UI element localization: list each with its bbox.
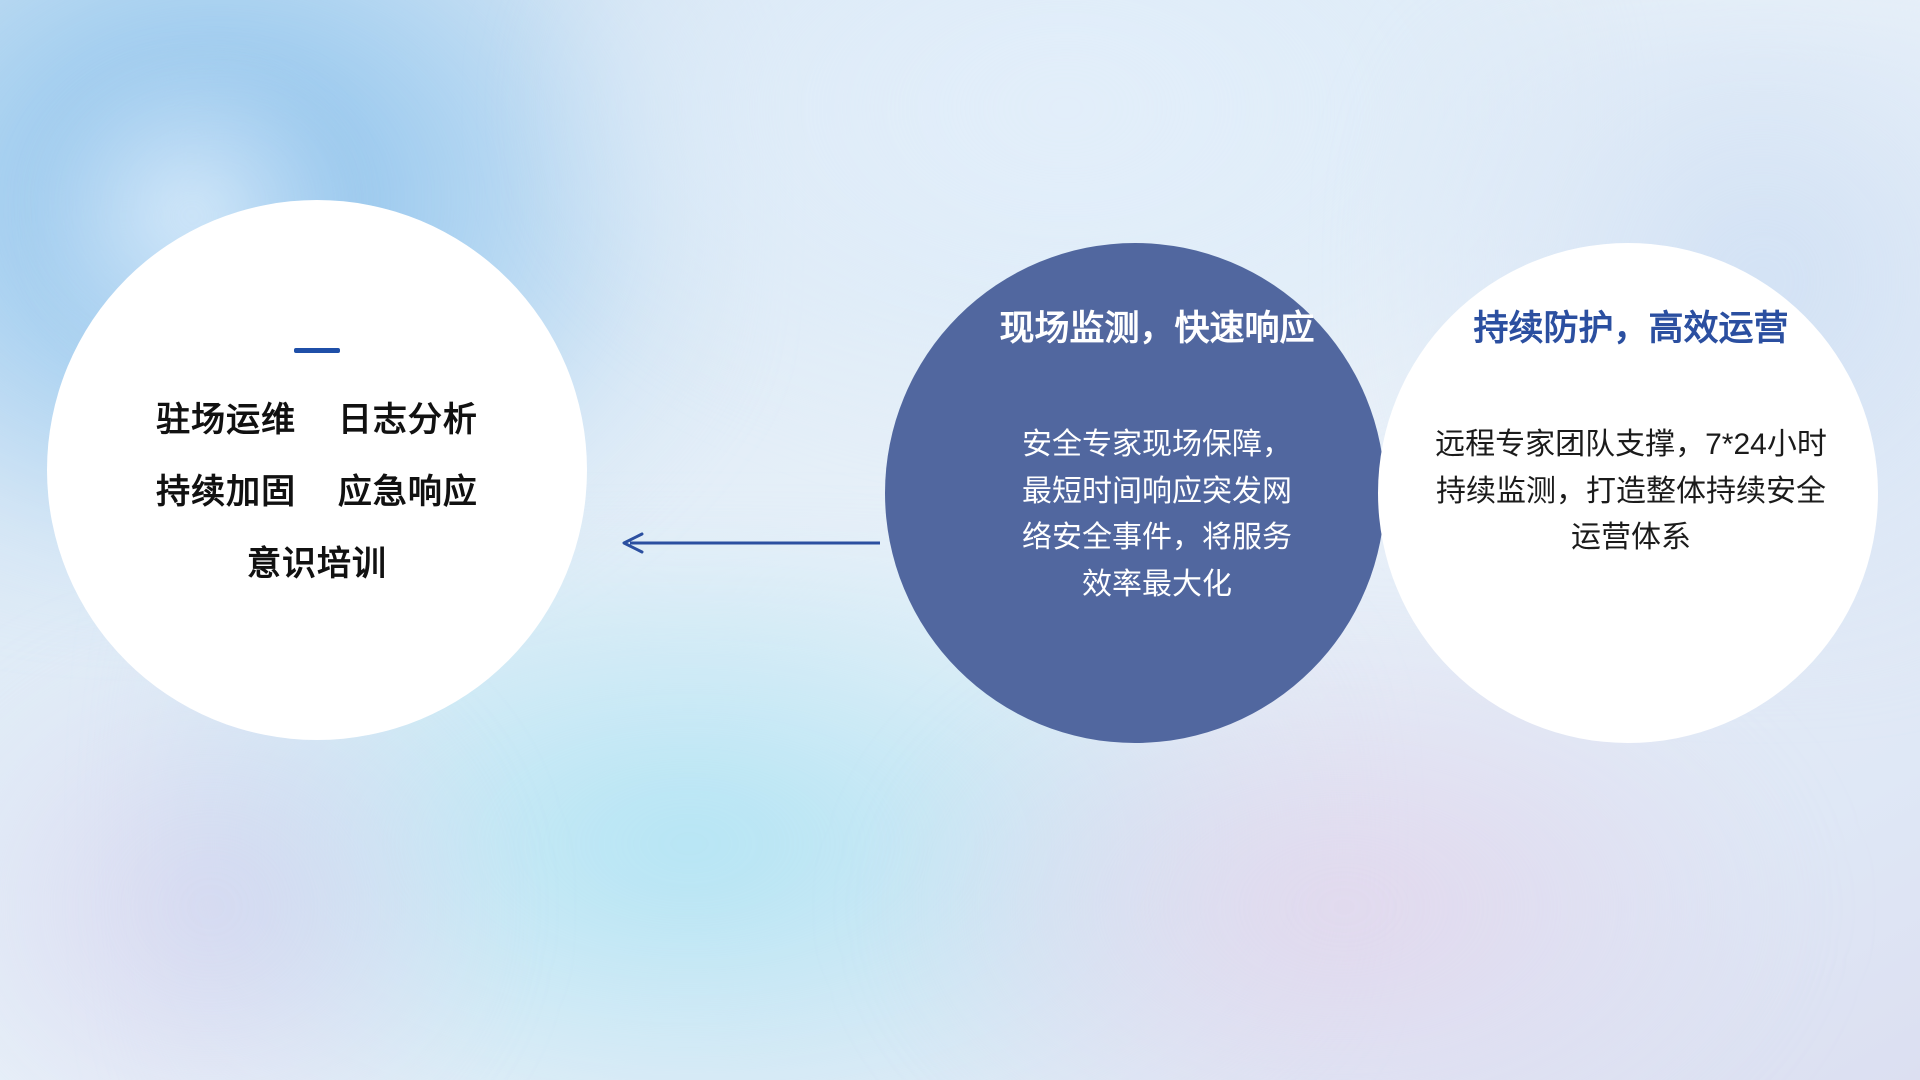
middle-circle-content: 现场监测，快速响应 安全专家现场保障，最短时间响应突发网络安全事件，将服务效率最… bbox=[935, 308, 1379, 608]
left-circle-content: 驻场运维 日志分析 持续加固 应急响应 意识培训 bbox=[47, 348, 587, 581]
circle-continuous-protection[interactable]: 持续防护，高效运营 远程专家团队支撑，7*24小时持续监测，打造整体持续安全运营… bbox=[1378, 243, 1878, 743]
service-keyword-row-1: 驻场运维 日志分析 bbox=[156, 403, 478, 437]
connector-arrow-left bbox=[612, 528, 882, 558]
service-keyword-row-2: 持续加固 应急响应 bbox=[156, 475, 478, 509]
circle-onsite-monitoring[interactable]: 现场监测，快速响应 安全专家现场保障，最短时间响应突发网络安全事件，将服务效率最… bbox=[885, 243, 1385, 743]
right-circle-title: 持续防护，高效运营 bbox=[1473, 308, 1788, 350]
accent-divider-icon bbox=[294, 348, 340, 353]
middle-circle-body: 安全专家现场保障，最短时间响应突发网络安全事件，将服务效率最大化 bbox=[1022, 422, 1292, 608]
right-circle-body: 远程专家团队支撑，7*24小时持续监测，打造整体持续安全运营体系 bbox=[1426, 422, 1836, 562]
right-circle-content: 持续防护，高效运营 远程专家团队支撑，7*24小时持续监测，打造整体持续安全运营… bbox=[1408, 308, 1854, 562]
middle-circle-title: 现场监测，快速响应 bbox=[999, 308, 1314, 350]
service-keyword-row-3: 意识培训 bbox=[247, 547, 387, 581]
arrow-left-icon bbox=[612, 528, 882, 558]
circle-service-contents[interactable]: 驻场运维 日志分析 持续加固 应急响应 意识培训 bbox=[47, 200, 587, 740]
slide-canvas: 驻场运维 日志分析 持续加固 应急响应 意识培训 现场监测，快速响应 安全专家现… bbox=[0, 0, 1920, 1080]
